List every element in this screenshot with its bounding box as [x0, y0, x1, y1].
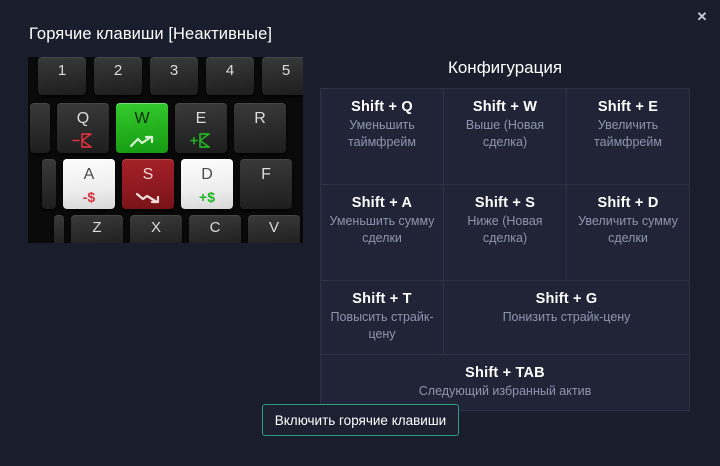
keyboard-row: ZXCV — [28, 215, 303, 243]
key-partial — [42, 159, 56, 209]
shortcuts-table-body: Shift + QУменьшить таймфреймShift + WВыш… — [321, 89, 690, 411]
key-z: Z — [71, 215, 123, 243]
close-button[interactable]: ✕ — [691, 5, 713, 27]
shortcut-combo: Shift + G — [450, 291, 683, 307]
shortcuts-table: Shift + QУменьшить таймфреймShift + WВыш… — [320, 88, 690, 411]
shortcut-row: Shift + AУменьшить сумму сделкиShift + S… — [321, 185, 690, 281]
hourglass-minus-icon — [57, 133, 109, 148]
shortcut-cell: Shift + SНиже (Новая сделка) — [444, 185, 567, 281]
key-label: C — [210, 219, 221, 236]
shortcut-description: Уменьшить сумму сделки — [327, 213, 437, 248]
key-x: X — [130, 215, 182, 243]
shortcut-cell: Shift + QУменьшить таймфрейм — [321, 89, 444, 185]
key-3: 3 — [150, 57, 198, 95]
key-partial — [54, 215, 64, 243]
shortcut-row: Shift + QУменьшить таймфреймShift + WВыш… — [321, 89, 690, 185]
shortcut-description: Ниже (Новая сделка) — [450, 213, 560, 248]
shortcut-combo: Shift + D — [573, 195, 683, 211]
key-v: V — [248, 215, 300, 243]
key-label: D — [201, 166, 213, 184]
shortcut-row: Shift + TПовысить страйк-ценуShift + GПо… — [321, 281, 690, 355]
shortcut-combo: Shift + A — [327, 195, 437, 211]
shortcut-description: Выше (Новая сделка) — [450, 117, 560, 152]
key-label: 5 — [282, 62, 290, 79]
shortcut-description: Увеличить сумму сделки — [573, 213, 683, 248]
key-label: Z — [92, 219, 101, 236]
key-s: S — [122, 159, 174, 209]
key-label: R — [254, 110, 266, 128]
key-a: A-$ — [63, 159, 115, 209]
shortcut-description: Понизить страйк-цену — [450, 309, 683, 326]
enable-hotkeys-button[interactable]: Включить горячие клавиши — [262, 404, 459, 436]
key-label: 1 — [58, 62, 66, 79]
close-icon: ✕ — [697, 10, 708, 23]
key-label: 2 — [114, 62, 122, 79]
shortcut-row: Shift + TABСледующий избранный актив — [321, 354, 690, 410]
key-label: W — [134, 110, 149, 128]
page-title: Горячие клавиши [Неактивные] — [29, 25, 272, 44]
keyboard-row: A-$SD+$F — [28, 159, 303, 215]
key-e: E — [175, 103, 227, 153]
shortcut-combo: Shift + TAB — [327, 365, 683, 381]
key-partial — [30, 103, 50, 153]
key-d: D+$ — [181, 159, 233, 209]
key-label: X — [151, 219, 161, 236]
key-w: W — [116, 103, 168, 153]
key-5: 5 — [262, 57, 303, 95]
key-4: 4 — [206, 57, 254, 95]
arrow-trend-down-icon — [122, 190, 174, 204]
shortcut-description: Увеличить таймфрейм — [573, 117, 683, 152]
key-label: 3 — [170, 62, 178, 79]
keyboard-row: 12345 — [28, 57, 303, 103]
key-2: 2 — [94, 57, 142, 95]
shortcut-cell: Shift + WВыше (Новая сделка) — [444, 89, 567, 185]
keyboard-illustration: 12345QWERA-$SD+$FZXCV — [28, 57, 303, 243]
key-label: F — [261, 166, 271, 184]
key-label: A — [84, 166, 95, 184]
shortcut-description: Повысить страйк-цену — [327, 309, 437, 344]
shortcut-combo: Shift + S — [450, 195, 560, 211]
shortcut-cell: Shift + GПонизить страйк-цену — [444, 281, 690, 355]
shortcut-cell: Shift + DУвеличить сумму сделки — [567, 185, 690, 281]
key-annotation: -$ — [63, 190, 115, 204]
key-label: S — [143, 166, 154, 184]
shortcut-description: Уменьшить таймфрейм — [327, 117, 437, 152]
shortcut-description: Следующий избранный актив — [327, 383, 683, 400]
key-r: R — [234, 103, 286, 153]
arrow-trend-up-icon — [116, 134, 168, 148]
hourglass-plus-icon — [175, 133, 227, 148]
shortcut-cell: Shift + EУвеличить таймфрейм — [567, 89, 690, 185]
config-heading: Конфигурация — [320, 58, 690, 78]
key-q: Q — [57, 103, 109, 153]
key-label: E — [196, 110, 207, 128]
shortcut-combo: Shift + T — [327, 291, 437, 307]
key-annotation: +$ — [181, 190, 233, 204]
shortcut-combo: Shift + Q — [327, 99, 437, 115]
shortcut-combo: Shift + W — [450, 99, 560, 115]
shortcut-combo: Shift + E — [573, 99, 683, 115]
key-1: 1 — [38, 57, 86, 95]
shortcut-cell: Shift + TПовысить страйк-цену — [321, 281, 444, 355]
key-f: F — [240, 159, 292, 209]
shortcut-cell: Shift + AУменьшить сумму сделки — [321, 185, 444, 281]
key-label: Q — [77, 110, 89, 128]
shortcut-cell: Shift + TABСледующий избранный актив — [321, 354, 690, 410]
key-c: C — [189, 215, 241, 243]
key-label: 4 — [226, 62, 234, 79]
keyboard-row: QWER — [28, 103, 303, 159]
key-label: V — [269, 219, 279, 236]
